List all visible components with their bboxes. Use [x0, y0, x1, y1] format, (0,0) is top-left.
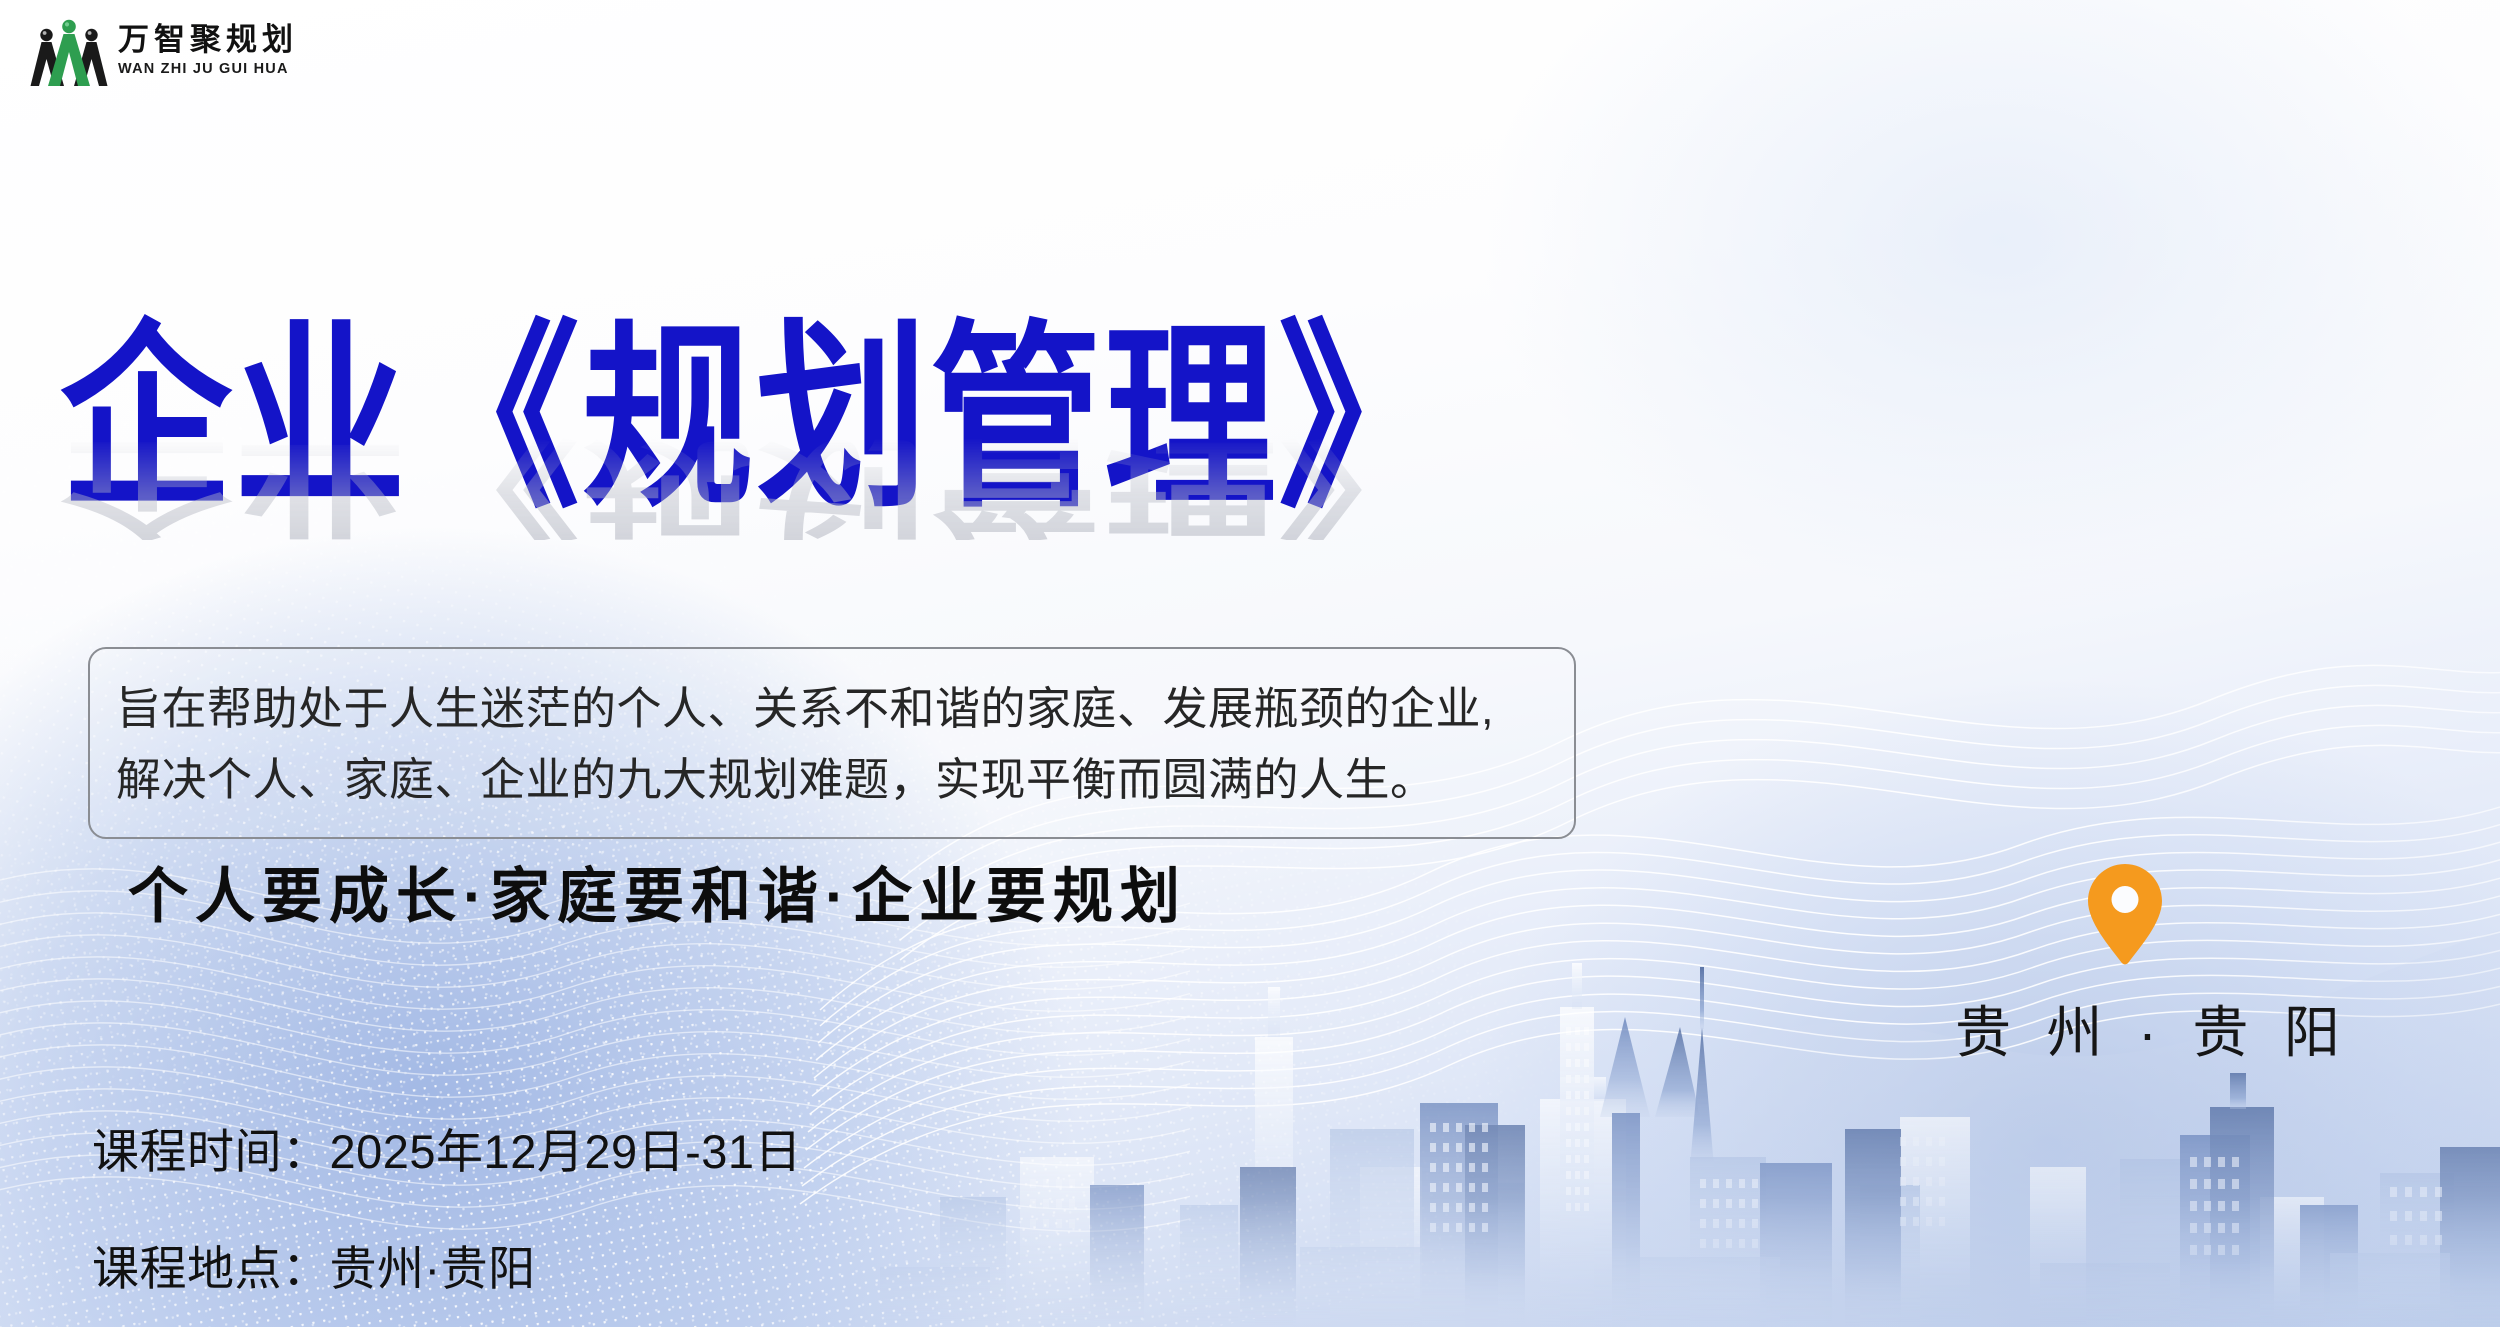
brand-name-en: WAN ZHI JU GUI HUA: [118, 62, 298, 77]
location-block: 贵 州 · 贵 阳: [1955, 862, 2295, 1069]
brand-logo-text: 万智聚规划 WAN ZHI JU GUI HUA: [118, 24, 298, 77]
tagline: 个人要成长·家庭要和谐·企业要规划: [128, 848, 1187, 935]
location-label: 贵 州 · 贵 阳: [1955, 988, 2295, 1069]
course-info-block: 课程时间：2025年12月29日-31日 课程地点：贵州·贵阳: [92, 1113, 802, 1299]
three-people-logo-icon: [30, 14, 108, 86]
page-title: 企业《规划管理》: [60, 318, 1660, 522]
description-line-1: 旨在帮助处于人生迷茫的个人、关系不和谐的家庭、发展瓶颈的企业,: [116, 673, 1548, 744]
map-pin-icon: [2085, 862, 2165, 966]
course-time-row: 课程时间：2025年12月29日-31日: [92, 1113, 802, 1182]
course-place-row: 课程地点：贵州·贵阳: [92, 1230, 802, 1299]
poster-canvas: 万智聚规划 WAN ZHI JU GUI HUA 企业《规划管理》 企业《规划管…: [0, 0, 2500, 1327]
description-line-2: 解决个人、家庭、企业的九大规划难题，实现平衡而圆满的人生。: [116, 744, 1548, 815]
brand-logo[interactable]: 万智聚规划 WAN ZHI JU GUI HUA: [30, 14, 298, 86]
brand-name-cn: 万智聚规划: [118, 24, 298, 55]
description-box: 旨在帮助处于人生迷茫的个人、关系不和谐的家庭、发展瓶颈的企业, 解决个人、家庭、…: [88, 647, 1576, 839]
hero-title-block: 企业《规划管理》 企业《规划管理》: [60, 318, 1660, 493]
